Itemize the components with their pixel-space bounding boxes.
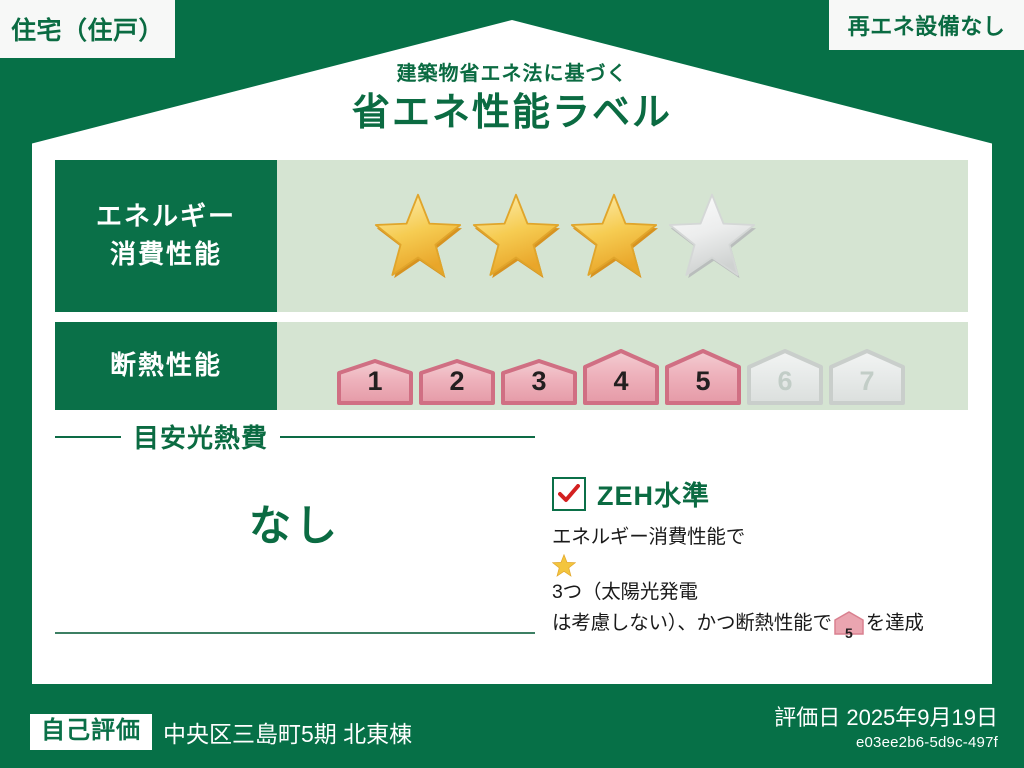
check-icon <box>558 484 580 504</box>
zeh-title: ZEH水準 <box>597 474 710 513</box>
footer-right: 評価日 2025年9月19日 e03ee2b6-5d9c-497f <box>774 704 998 752</box>
utility-cost-heading-text: 目安光熱費 <box>121 418 280 455</box>
heading-rule-right <box>280 436 535 438</box>
insulation-grade-6: 6 <box>747 345 823 405</box>
energy-label-line1: エネルギー <box>96 198 236 236</box>
star-icon-empty <box>666 192 758 280</box>
badge-building-type: 住宅（住戸） <box>0 0 175 58</box>
insulation-performance-label: 断熱性能 <box>55 322 277 410</box>
insulation-performance-body: 1234567 <box>277 322 968 410</box>
zeh-title-row: ZEH水準 <box>552 474 982 513</box>
zeh-desc-part3: を達成 <box>866 612 924 634</box>
star-rating <box>372 192 758 280</box>
zeh-checkbox[interactable] <box>552 477 586 511</box>
insulation-grade-number: 5 <box>665 366 741 397</box>
insulation-grade-1: 1 <box>337 345 413 405</box>
zeh-desc-part2: は考慮しない）、かつ断熱性能で <box>552 612 832 634</box>
insulation-grade-2: 2 <box>419 345 495 405</box>
utility-cost-value: なし <box>55 492 535 553</box>
energy-performance-row: エネルギー 消費性能 <box>55 160 968 312</box>
insulation-grade-number: 2 <box>419 366 495 397</box>
heading-rule-left <box>55 436 121 438</box>
house-badge-inline-number: 5 <box>834 622 864 645</box>
zeh-block: ZEH水準 エネルギー消費性能で3つ（太陽光発電は考慮しない）、かつ断熱性能で5… <box>552 474 982 646</box>
title-block: 建築物省エネ法に基づく 省エネ性能ラベル <box>0 62 1024 139</box>
star-icon-filled <box>372 192 464 280</box>
evaluation-date: 評価日 2025年9月19日 <box>774 704 998 732</box>
zeh-desc-star-count: 3つ（太陽光発電 <box>552 581 698 603</box>
insulation-grade-number: 4 <box>583 366 659 397</box>
insulation-grade-number: 3 <box>501 366 577 397</box>
zeh-desc-part1: エネルギー消費性能で <box>552 526 745 548</box>
energy-label-line2: 消費性能 <box>110 236 222 274</box>
utility-cost-bottom-rule <box>55 632 535 634</box>
self-evaluation-badge: 自己評価 <box>30 714 152 750</box>
evaluation-id: e03ee2b6-5d9c-497f <box>774 733 998 753</box>
insulation-grade-number: 1 <box>337 366 413 397</box>
insulation-performance-row: 断熱性能 1234567 <box>55 322 968 410</box>
insulation-grade-number: 6 <box>747 366 823 397</box>
page-title: 省エネ性能ラベル <box>0 88 1024 139</box>
property-name: 中央区三島町5期 北東棟 <box>163 715 412 749</box>
badge-renewable-energy: 再エネ設備なし <box>829 0 1024 50</box>
house-badge-inline: 5 <box>834 611 864 646</box>
insulation-grade-5: 5 <box>665 345 741 405</box>
footer-left: 自己評価 中央区三島町5期 北東棟 <box>30 714 412 750</box>
insulation-grade-4: 4 <box>583 345 659 405</box>
star-icon-filled <box>470 192 562 280</box>
insulation-grade-3: 3 <box>501 345 577 405</box>
insulation-grade-scale: 1234567 <box>337 317 905 415</box>
star-icon-filled <box>568 192 660 280</box>
energy-performance-label: エネルギー 消費性能 <box>55 160 277 312</box>
label-root: 住宅（住戸） 再エネ設備なし 建築物省エネ法に基づく 省エネ性能ラベル エネルギ… <box>0 0 1024 768</box>
title-subtitle: 建築物省エネ法に基づく <box>0 62 1024 86</box>
utility-cost-heading: 目安光熱費 <box>55 418 535 455</box>
zeh-description: エネルギー消費性能で3つ（太陽光発電は考慮しない）、かつ断熱性能で5を達成 <box>552 522 982 646</box>
insulation-grade-number: 7 <box>829 366 905 397</box>
energy-performance-body <box>277 160 968 312</box>
insulation-grade-7: 7 <box>829 345 905 405</box>
star-icon-inline <box>552 554 576 577</box>
